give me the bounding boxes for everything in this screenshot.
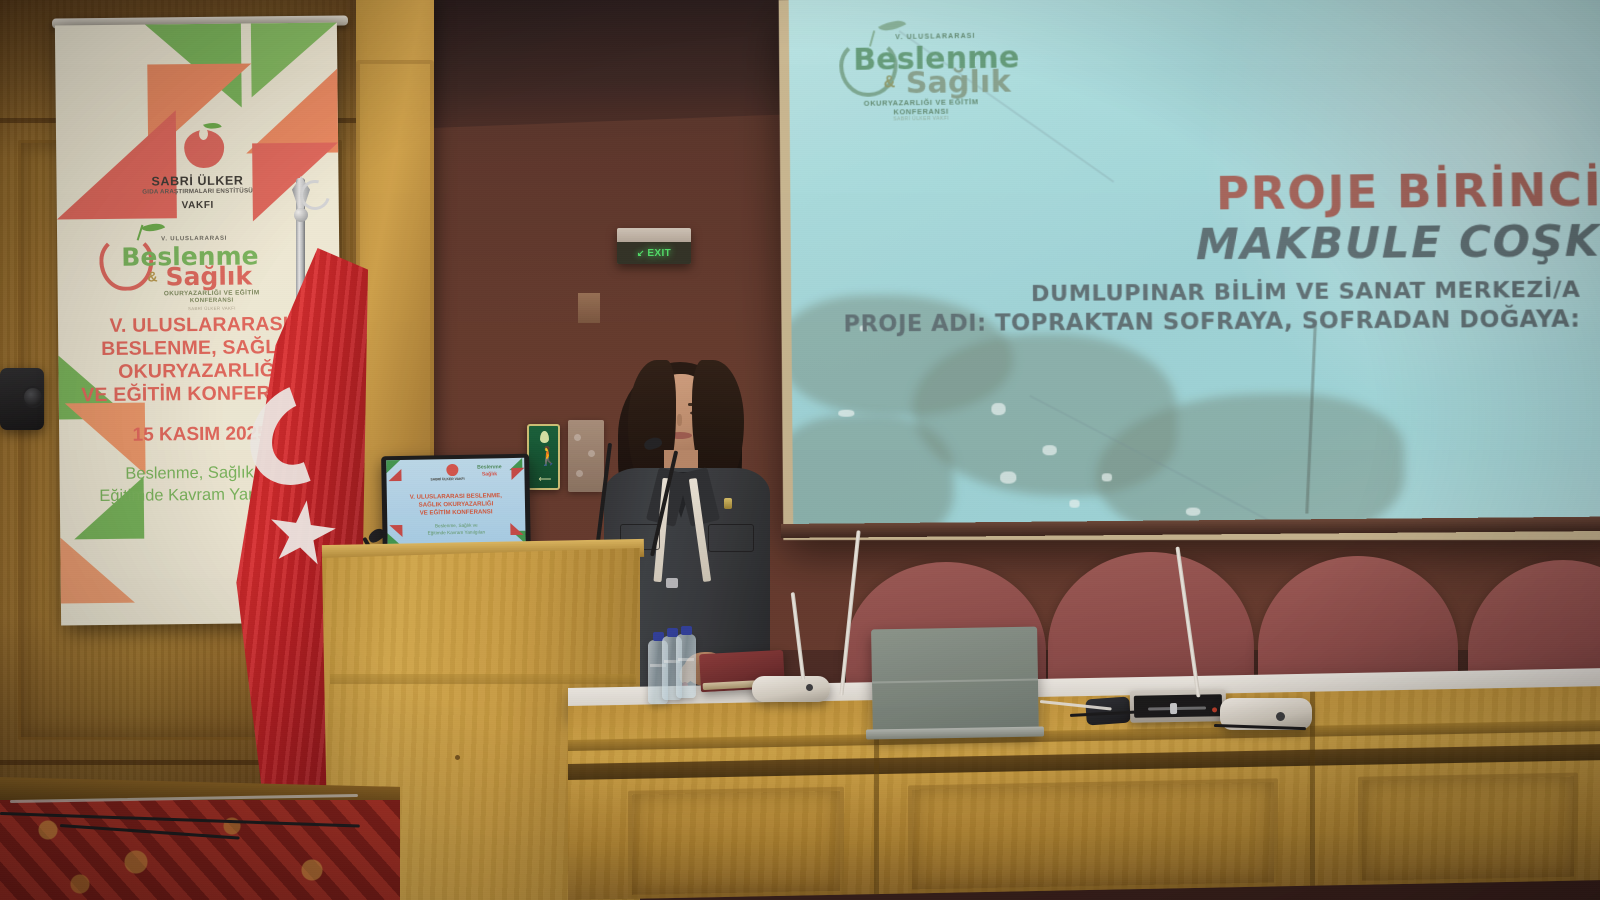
wall-plate <box>578 293 600 323</box>
jacket-pocket <box>708 524 754 552</box>
running-person-icon: 🚶 <box>537 446 553 468</box>
audio-control-unit <box>1130 689 1227 723</box>
podium-monitor-screen: SABRİ ÜLKER VAKFI Beslenme Sağlık V. ULU… <box>386 458 525 546</box>
apple-icon <box>446 464 458 476</box>
projection-screen-surface: V. ULUSLARARASI Beslenme & Sağlık OKURYA… <box>789 0 1600 526</box>
banner-logo-sub2: KONFERANSI <box>122 297 302 305</box>
flame-icon <box>540 431 549 443</box>
laptop <box>871 627 1039 738</box>
audio-slider-knob[interactable] <box>1170 703 1177 714</box>
apple-icon <box>182 122 226 168</box>
microphone-button[interactable] <box>806 684 813 691</box>
audio-status-led <box>1212 707 1217 712</box>
desk-panel-inset <box>628 787 844 899</box>
illuminated-exit-sign: ↙ EXIT <box>617 228 691 264</box>
slide-presenter-name: MAKBULE COŞK <box>1196 216 1600 270</box>
panel-desk-front <box>568 686 1600 900</box>
banner-shape-orange <box>245 69 338 154</box>
microphone-button[interactable] <box>1276 712 1285 721</box>
conference-hall-photo: SABRİ ÜLKER GIDA ARAŞTIRMALARI ENSTİTÜSÜ… <box>0 0 1600 900</box>
podium-monitor-logo-word2: Sağlık <box>472 471 506 478</box>
podium-monitor-subtitle-2: Eğitimde Kavram Yanılgıları <box>395 529 517 537</box>
slide-institution-line: DUMLUPINAR BİLİM VE SANAT MERKEZİ/A <box>1031 277 1581 307</box>
desk-panel-inset <box>908 778 1278 893</box>
arrow-left-icon: ⟵ <box>534 475 556 484</box>
water-bottle <box>676 634 696 698</box>
slide-award-line: PROJE BİRİNCİ <box>1216 164 1600 220</box>
podium-monitor-logo-word1: Beslenme <box>472 464 506 471</box>
desk-panel-inset <box>1358 773 1578 885</box>
emergency-exit-sign: 🚶 ⟵ <box>527 424 560 490</box>
badge-clip <box>666 578 678 588</box>
banner-logo-word2: Sağlık <box>165 261 252 291</box>
banner-logo-ampersand: & <box>147 268 157 284</box>
banner-conference-logo: V. ULUSLARARASI Beslenme & Sağlık OKURYA… <box>95 219 302 299</box>
exit-label: EXIT <box>647 248 671 259</box>
banner-logo-sub3: SABRİ ÜLKER VAKFI <box>122 305 302 312</box>
podium-knob <box>455 755 460 760</box>
flag-pole-ball <box>294 208 308 222</box>
nose <box>677 414 682 426</box>
microphone-base <box>752 676 830 702</box>
leaf-icon <box>141 218 165 236</box>
slide-project-line: PROJE ADI: TOPRAKTAN SOFRAYA, SOFRADAN D… <box>843 306 1580 337</box>
banner-shape-orange <box>60 537 135 604</box>
podium-lip <box>330 674 636 684</box>
podium-monitor-title-3: VE EĞİTİM KONFERANSI <box>395 508 517 518</box>
exit-arrow-icon: ↙ <box>637 249 645 258</box>
podium-monitor-org: SABRİ ÜLKER VAKFI <box>426 477 468 482</box>
lapel-pin-icon <box>724 498 732 509</box>
camera-lens-icon <box>22 386 44 408</box>
projection-screen: V. ULUSLARARASI Beslenme & Sağlık OKURYA… <box>779 0 1600 540</box>
audio-unit-face <box>1134 694 1222 718</box>
